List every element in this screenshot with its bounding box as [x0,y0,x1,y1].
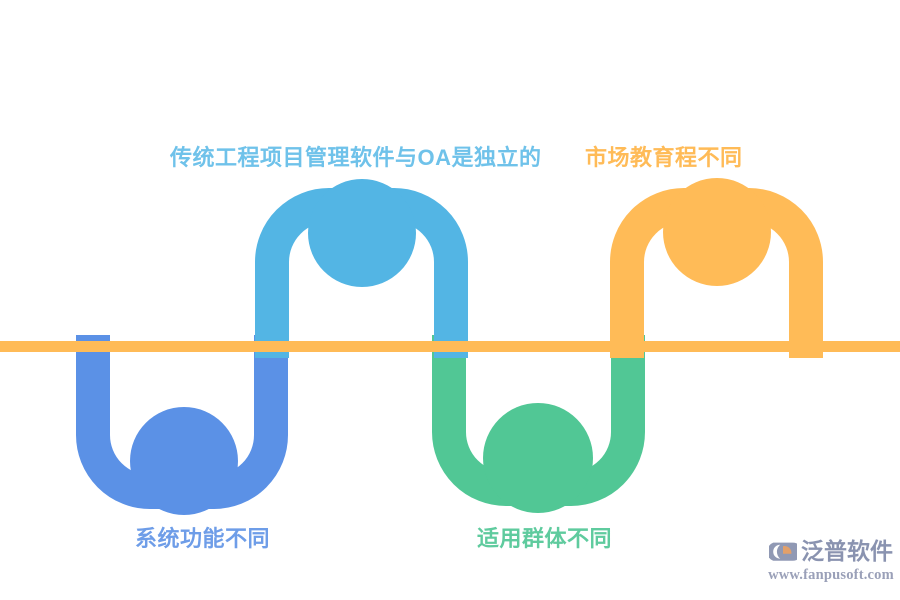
label-lightblue-segment: 传统工程项目管理软件与OA是独立的 [170,146,542,170]
baseline-rule [0,341,900,352]
brand-row: 泛普软件 [769,536,893,566]
fanpu-logo-icon [769,537,797,565]
blue-node-circle[interactable] [130,407,238,515]
orange-node-circle[interactable] [663,178,771,286]
segment-blue-down[interactable] [93,335,271,515]
segment-green-down[interactable] [449,335,628,513]
label-green-segment: 适用群体不同 [477,527,612,551]
segment-lightblue-up[interactable] [272,179,451,358]
brand-url: www.fanpusoft.com [768,567,894,584]
segment-orange-up[interactable] [627,178,806,358]
label-orange-segment: 市场教育程不同 [585,146,743,170]
brand-name: 泛普软件 [801,538,893,564]
green-node-circle[interactable] [483,403,593,513]
brand-watermark: 泛普软件 www.fanpusoft.com [768,536,894,592]
wave-diagram [0,0,900,600]
lightblue-node-circle[interactable] [308,179,416,287]
infographic-canvas: 传统工程项目管理软件与OA是独立的 市场教育程不同 系统功能不同 适用群体不同 … [0,0,900,600]
label-blue-segment: 系统功能不同 [135,527,270,551]
